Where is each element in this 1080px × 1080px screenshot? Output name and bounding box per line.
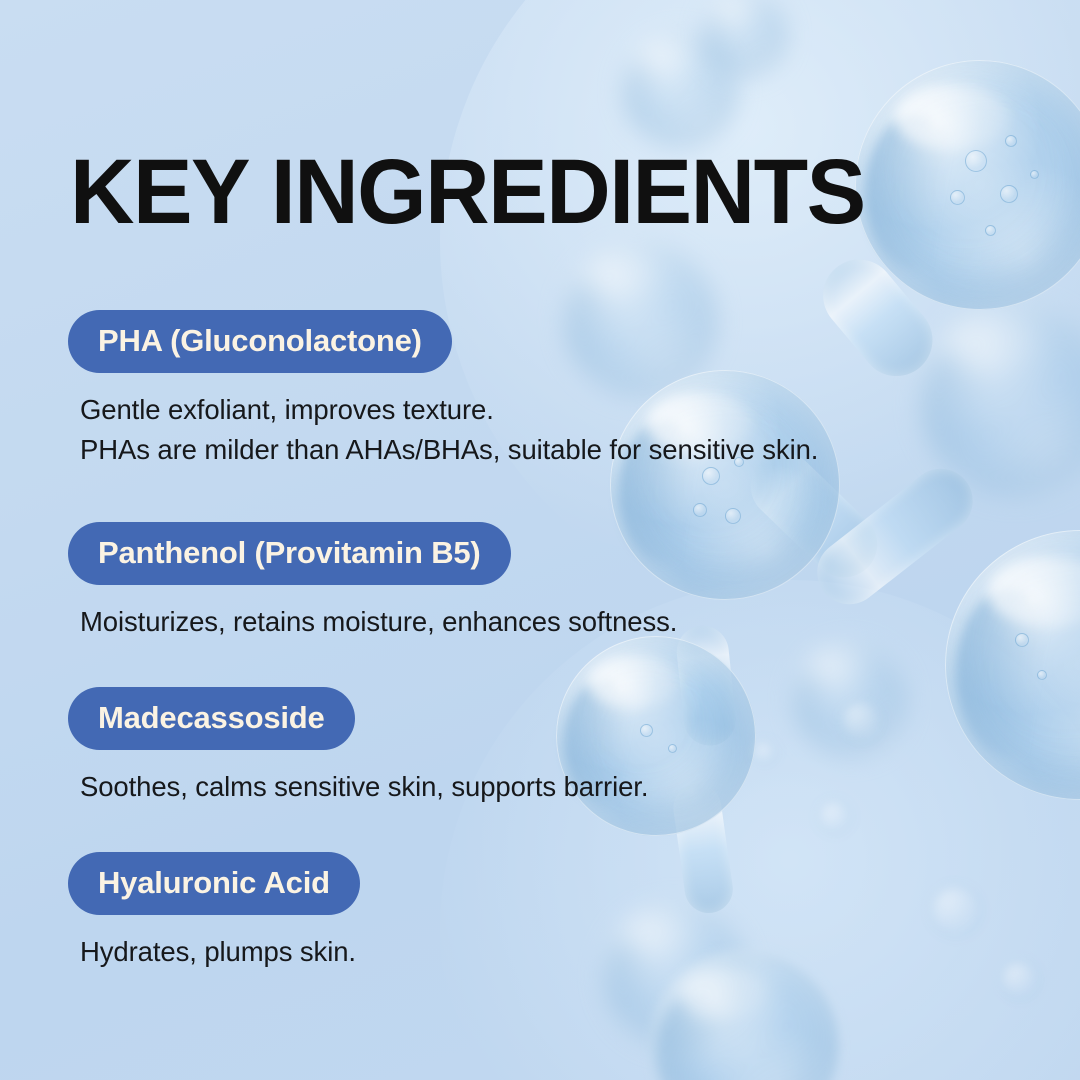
description-line: Moisturizes, retains moisture, enhances …: [80, 602, 677, 642]
poster-canvas: KEY INGREDIENTS PHA (Gluconolactone) Gen…: [0, 0, 1080, 1080]
ingredient-description-pha: Gentle exfoliant, improves texture. PHAs…: [80, 390, 818, 469]
ingredient-item-hyaluronic-acid: Hyaluronic Acid Hydrates, plumps skin.: [68, 852, 360, 972]
ingredient-item-panthenol: Panthenol (Provitamin B5) Moisturizes, r…: [68, 522, 677, 642]
description-line: Soothes, calms sensitive skin, supports …: [80, 767, 648, 807]
ingredient-name-badge-panthenol[interactable]: Panthenol (Provitamin B5): [68, 522, 511, 585]
description-line: Hydrates, plumps skin.: [80, 932, 360, 972]
ingredient-description-madecassoside: Soothes, calms sensitive skin, supports …: [80, 767, 648, 807]
poster-content: KEY INGREDIENTS PHA (Gluconolactone) Gen…: [0, 0, 1080, 1080]
ingredient-name-badge-hyaluronic-acid[interactable]: Hyaluronic Acid: [68, 852, 360, 915]
ingredient-description-hyaluronic-acid: Hydrates, plumps skin.: [80, 932, 360, 972]
page-title: KEY INGREDIENTS: [70, 146, 865, 238]
ingredient-name-badge-madecassoside[interactable]: Madecassoside: [68, 687, 355, 750]
description-line: PHAs are milder than AHAs/BHAs, suitable…: [80, 430, 818, 470]
ingredient-item-pha: PHA (Gluconolactone) Gentle exfoliant, i…: [68, 310, 818, 469]
ingredient-name-badge-pha[interactable]: PHA (Gluconolactone): [68, 310, 452, 373]
ingredient-description-panthenol: Moisturizes, retains moisture, enhances …: [80, 602, 677, 642]
description-line: Gentle exfoliant, improves texture.: [80, 390, 818, 430]
ingredient-item-madecassoside: Madecassoside Soothes, calms sensitive s…: [68, 687, 648, 807]
